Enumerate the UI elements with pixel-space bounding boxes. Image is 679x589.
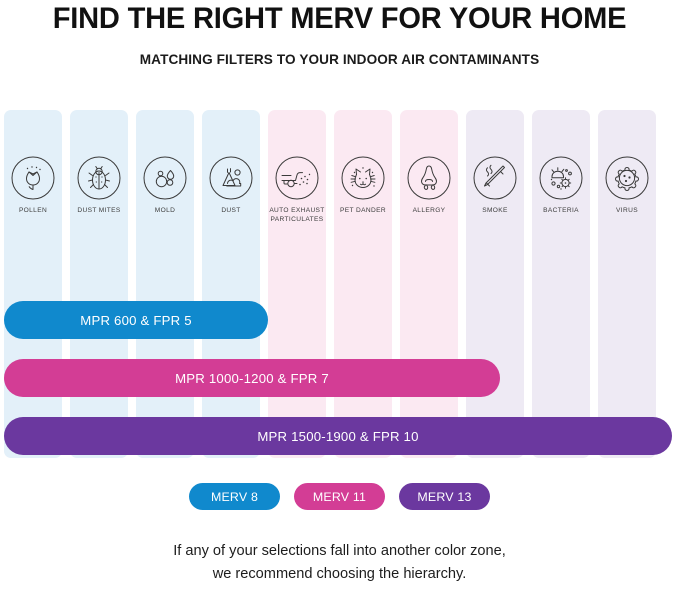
column-label: BACTERIA xyxy=(528,206,594,215)
column-dust[interactable]: DUST xyxy=(202,110,260,458)
rating-pill-merv13[interactable]: MPR 1500-1900 & FPR 10 xyxy=(4,417,672,455)
column-label: SMOKE xyxy=(462,206,528,215)
bacteria-icon xyxy=(539,156,583,200)
column-dust-mites[interactable]: DUST MITES xyxy=(70,110,128,458)
merv-legend: MERV 8 MERV 11 MERV 13 xyxy=(189,483,490,510)
column-smoke[interactable]: SMOKE xyxy=(466,110,524,458)
column-auto-exhaust-particulates[interactable]: AUTO EXHAUST PARTICULATES xyxy=(268,110,326,458)
column-label: MOLD xyxy=(132,206,198,215)
page-title: FIND THE RIGHT MERV FOR YOUR HOME xyxy=(5,2,674,36)
column-label: AUTO EXHAUST PARTICULATES xyxy=(264,206,330,224)
rating-pill-merv11[interactable]: MPR 1000-1200 & FPR 7 xyxy=(4,359,500,397)
mold-spores-icon xyxy=(143,156,187,200)
page-subtitle: MATCHING FILTERS TO YOUR INDOOR AIR CONT… xyxy=(0,51,679,68)
cat-face-icon xyxy=(341,156,385,200)
cigarette-smoke-icon xyxy=(473,156,517,200)
dust-cloud-icon xyxy=(209,156,253,200)
legend-badge-merv8[interactable]: MERV 8 xyxy=(189,483,280,510)
pollen-flower-icon xyxy=(11,156,55,200)
column-virus[interactable]: VIRUS xyxy=(598,110,656,458)
column-label: ALLERGY xyxy=(396,206,462,215)
contaminant-columns: POLLEN DUST MITES xyxy=(4,110,676,458)
column-bacteria[interactable]: BACTERIA xyxy=(532,110,590,458)
column-allergy[interactable]: ALLERGY xyxy=(400,110,458,458)
column-label: DUST MITES xyxy=(66,206,132,215)
legend-badge-merv13[interactable]: MERV 13 xyxy=(399,483,490,510)
column-label: VIRUS xyxy=(594,206,660,215)
column-pollen[interactable]: POLLEN xyxy=(4,110,62,458)
column-label: DUST xyxy=(198,206,264,215)
rating-pill-merv8[interactable]: MPR 600 & FPR 5 xyxy=(4,301,268,339)
legend-badge-merv11[interactable]: MERV 11 xyxy=(294,483,385,510)
nose-icon xyxy=(407,156,451,200)
column-pet-dander[interactable]: PET DANDER xyxy=(334,110,392,458)
footnote-text: If any of your selections fall into anot… xyxy=(0,540,679,586)
column-label: POLLEN xyxy=(0,206,66,215)
virus-icon xyxy=(605,156,649,200)
column-label: PET DANDER xyxy=(330,206,396,215)
dust-mite-bug-icon xyxy=(77,156,121,200)
column-mold[interactable]: MOLD xyxy=(136,110,194,458)
car-exhaust-icon xyxy=(275,156,319,200)
header: FIND THE RIGHT MERV FOR YOUR HOME MATCHI… xyxy=(0,0,679,68)
